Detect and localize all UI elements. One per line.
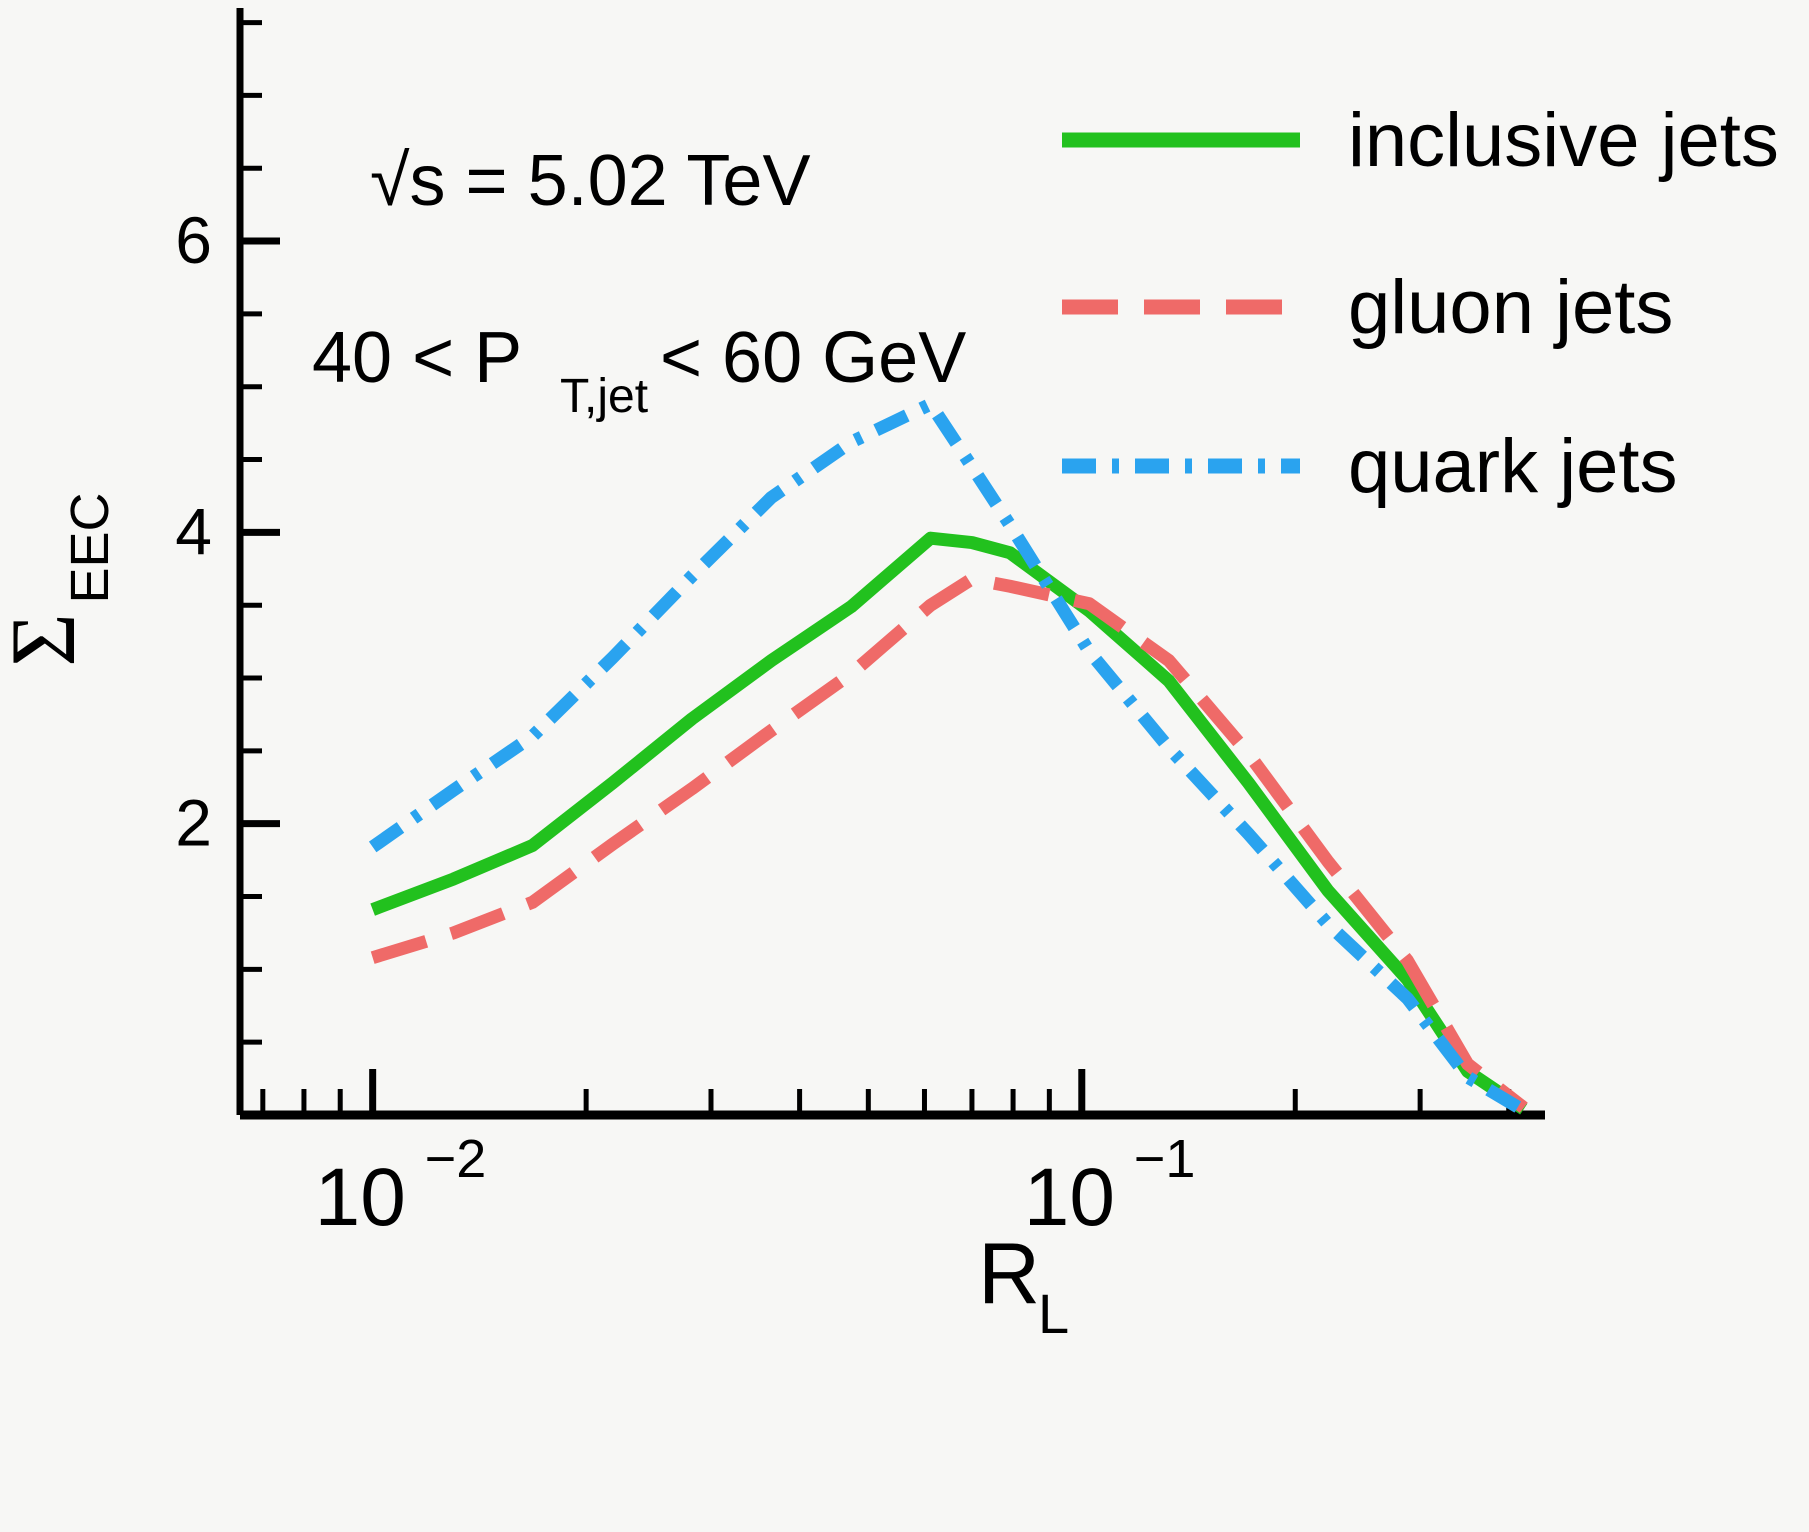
y-axis-title-sub: EEC [60, 492, 120, 603]
x-axis-title-sub: L [1038, 1282, 1069, 1345]
x-tick-mantissa: 10 [315, 1152, 406, 1243]
y-tick-label: 4 [175, 494, 212, 568]
x-tick-exponent: −1 [1134, 1129, 1196, 1189]
x-axis-title-main: R [978, 1226, 1040, 1322]
annotation-pt-prefix: 40 < P [312, 318, 522, 398]
annotation-pt-subscript: T,jet [560, 370, 648, 423]
legend-label-quark: quark jets [1348, 424, 1678, 509]
figure-background [0, 0, 1809, 1532]
y-tick-label: 2 [175, 786, 212, 860]
x-tick-exponent: −2 [425, 1129, 487, 1189]
legend-label-gluon: gluon jets [1348, 265, 1673, 350]
y-tick-label: 6 [175, 203, 212, 277]
annotation-energy-text: √s = 5.02 TeV [370, 141, 810, 221]
annotation-energy: √s = 5.02 TeV [370, 141, 810, 221]
legend-label-inclusive: inclusive jets [1348, 98, 1779, 183]
y-axis-title-main: Σ [0, 613, 94, 667]
annotation-pt-suffix: < 60 GeV [660, 318, 966, 398]
eec-line-chart: 24610−210−1RLΣEEC √s = 5.02 TeV40 < PT,j… [0, 0, 1809, 1532]
chart-figure: 24610−210−1RLΣEEC √s = 5.02 TeV40 < PT,j… [0, 0, 1809, 1532]
